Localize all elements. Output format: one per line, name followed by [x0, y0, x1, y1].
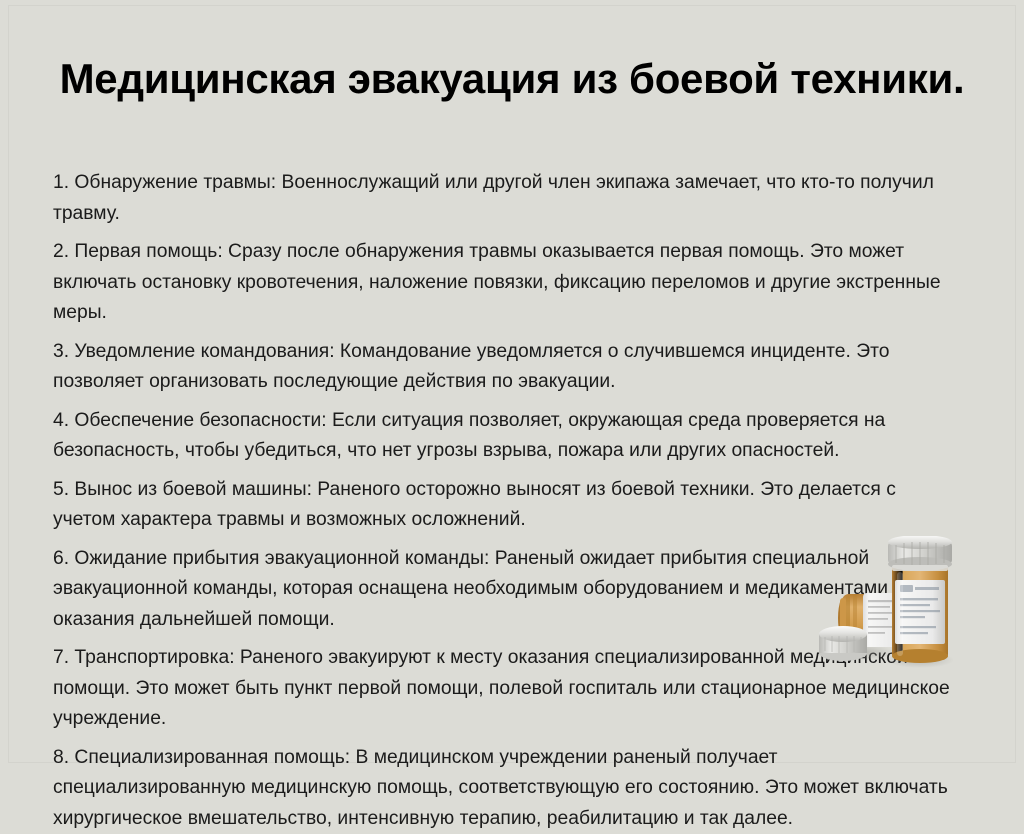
loose-bottle-cap [819, 626, 867, 661]
pill-bottles-image [816, 536, 976, 681]
page-title: Медицинская эвакуация из боевой техники. [56, 52, 968, 105]
slide-canvas: Медицинская эвакуация из боевой техники.… [0, 0, 1024, 767]
upright-pill-bottle [888, 536, 952, 663]
list-item: 2. Первая помощь: Сразу после обнаружени… [53, 237, 958, 329]
list-item: 4. Обеспечение безопасности: Если ситуац… [53, 406, 958, 467]
list-item: 1. Обнаружение травмы: Военнослужащий ил… [53, 168, 958, 229]
list-item: 3. Уведомление командования: Командовани… [53, 337, 958, 398]
list-item: 8. Специализированная помощь: В медицинс… [53, 743, 958, 834]
list-item: 5. Вынос из боевой машины: Раненого осто… [53, 475, 958, 536]
body-text-block: 1. Обнаружение травмы: Военнослужащий ил… [53, 168, 958, 834]
